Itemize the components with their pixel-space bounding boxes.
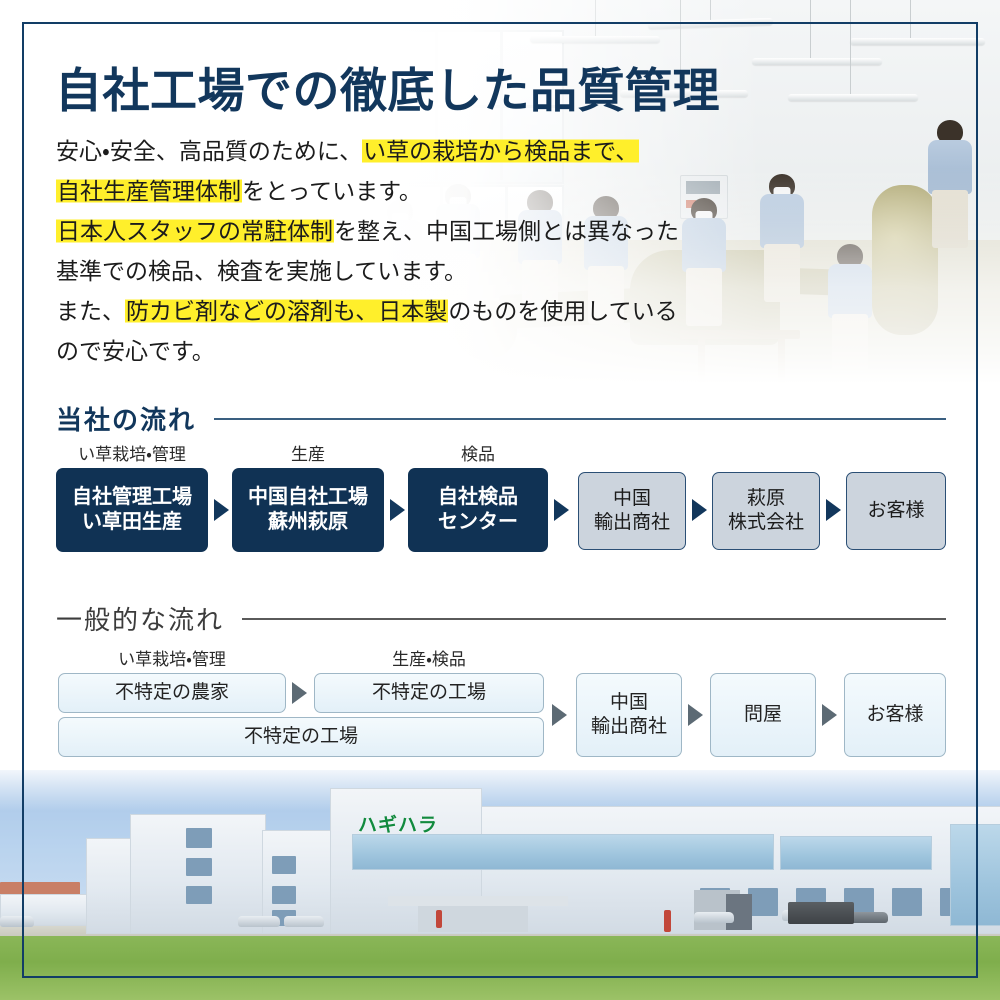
flow-arrow-icon [688,704,703,726]
flow-arrow-icon [292,682,307,704]
box-line-1: お客様 [867,499,924,523]
general-flow-heading: 一般的な流れ [56,600,946,637]
text-plain: を整え、中国工場側とは異なった [334,218,679,244]
infographic-page: ハギハラ 自社工場での徹底した品質管理 安心・安全、高品質のために、い草の栽培か… [0,0,1000,1000]
box-line-2: 輸出商社 [591,715,667,739]
description-line-6: ので安心です。 [56,331,756,371]
heading-rule [214,418,946,420]
company-flow-box-0[interactable]: 自社管理工場 い草田生産 [56,468,208,552]
box-line-2: 蘇州萩原 [248,510,368,535]
flow-arrow-icon [826,499,841,521]
general-flow-box-farm[interactable]: 不特定の農家 [58,673,286,713]
highlighted-text: い草の栽培から検品まで、 [362,138,639,164]
description-line-3: 日本人スタッフの常駐体制を整え、中国工場側とは異なった [56,211,756,251]
box-label: 不特定の工場 [372,681,486,705]
general-flow-box-wholesaler[interactable]: 問屋 [710,673,816,757]
description-line-1: 安心・安全、高品質のために、い草の栽培から検品まで、 [56,131,756,171]
flow-arrow-icon [214,499,229,521]
box-line-2: センター [438,510,518,535]
box-line-1: 中国自社工場 [248,485,368,510]
box-label: 不特定の工場 [244,725,358,749]
box-line-1: 中国 [591,691,667,715]
box-line-1: 自社検品 [438,485,518,510]
description-line-5: また、防カビ剤などの溶剤も、日本製のものを使用している [56,291,756,331]
general-flow-caption-1: 生産・検品 [314,645,544,670]
general-flow-box-factory-top[interactable]: 不特定の工場 [314,673,544,713]
company-flow-box-3[interactable]: 中国 輸出商社 [578,472,686,550]
general-flow-box-exporter[interactable]: 中国 輸出商社 [576,673,682,757]
description-line-4: 基準での検品、検査を実施しています。 [56,251,756,291]
text-plain: のものを使用している [448,298,677,324]
box-line-2: い草田生産 [72,510,192,535]
flow-arrow-icon [552,704,567,726]
page-title: 自社工場での徹底した品質管理 [55,52,720,121]
company-flow-box-1[interactable]: 中国自社工場 蘇州萩原 [232,468,384,552]
general-flow-box-factory-wide[interactable]: 不特定の工場 [58,717,544,757]
box-line-2: 輸出商社 [594,511,670,535]
heading-rule [242,618,946,620]
flow-arrow-icon [554,499,569,521]
highlighted-text: 日本人スタッフの常駐体制 [56,218,334,244]
description-paragraph: 安心・安全、高品質のために、い草の栽培から検品まで、 自社生産管理体制をとってい… [56,131,756,371]
company-flow-caption-0: い草栽培・管理 [56,440,208,465]
company-flow-heading: 当社の流れ [56,400,946,437]
company-flow-box-5[interactable]: お客様 [846,472,946,550]
company-flow-row: い草栽培・管理 生産 検品 自社管理工場 い草田生産 中国自社工場 蘇州萩原 自… [0,440,1000,570]
flow-arrow-icon [822,704,837,726]
general-flow-title: 一般的な流れ [56,600,224,637]
text-plain: 安心・安全、高品質のために、 [56,138,362,164]
company-flow-box-4[interactable]: 萩原 株式会社 [712,472,820,550]
company-flow-title: 当社の流れ [56,400,196,437]
box-line-1: 中国 [594,487,670,511]
company-flow-box-2[interactable]: 自社検品 センター [408,468,548,552]
box-line-1: 自社管理工場 [72,485,192,510]
highlighted-text: 自社生産管理体制 [56,178,242,204]
description-line-2: 自社生産管理体制をとっています。 [56,171,756,211]
company-flow-caption-2: 検品 [408,440,548,465]
general-flow-caption-0: い草栽培・管理 [58,645,286,670]
general-flow-box-customer[interactable]: お客様 [844,673,946,757]
box-line-1: 萩原 [728,487,804,511]
box-line-2: 株式会社 [728,511,804,535]
text-plain: また、 [56,298,125,324]
flow-arrow-icon [692,499,707,521]
box-label: 問屋 [744,703,782,727]
highlighted-text: 防カビ剤などの溶剤も、日本製 [125,298,448,324]
company-flow-caption-1: 生産 [232,440,384,465]
flow-arrow-icon [390,499,405,521]
box-label: お客様 [866,703,923,727]
text-plain: をとっています。 [242,178,422,204]
general-flow-row: い草栽培・管理 生産・検品 不特定の農家 不特定の工場 不特定の工場 中国 輸出… [0,645,1000,770]
box-label: 不特定の農家 [115,681,229,705]
